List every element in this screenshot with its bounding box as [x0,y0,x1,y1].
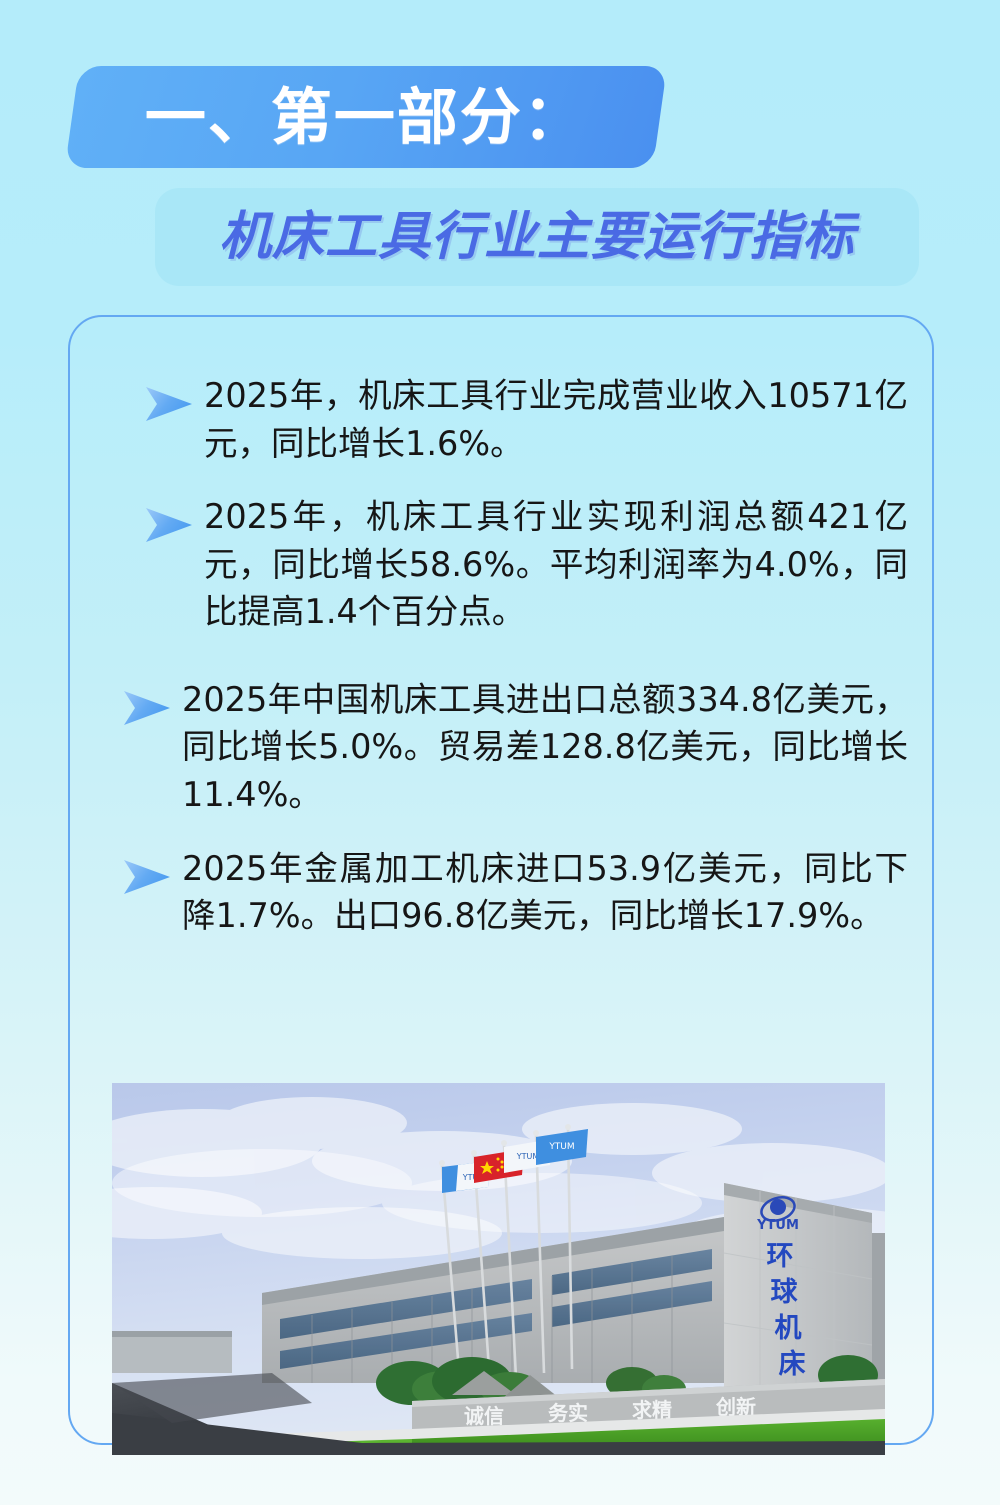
infographic-poster: 一、第一部分： 机床工具行业主要运行指标 [0,0,1000,1505]
list-item: 2025年中国机床工具进出口总额334.8亿美元，同比增长5.0%。贸易差128… [118,676,908,819]
svg-text:YTUM: YTUM [516,1152,540,1161]
svg-text:床: 床 [779,1348,806,1380]
svg-text:环: 环 [767,1241,794,1272]
arrow-right-icon [118,857,176,897]
arrow-right-icon [140,384,198,424]
page-subtitle: 机床工具行业主要运行指标 [219,211,855,263]
list-item: 2025年金属加工机床进口53.9亿美元，同比下降1.7%。出口96.8亿美元，… [118,845,908,940]
section-subtitle-banner: 机床工具行业主要运行指标 [155,188,919,286]
list-item-text: 2025年，机床工具行业完成营业收入10571亿元，同比增长1.6%。 [204,372,908,467]
svg-text:YTUM: YTUM [756,1218,799,1233]
svg-text:诚信: 诚信 [464,1404,504,1428]
list-item-text: 2025年金属加工机床进口53.9亿美元，同比下降1.7%。出口96.8亿美元，… [182,845,908,940]
svg-text:球: 球 [771,1277,799,1308]
company-building-photo: YTUM 环 球 机 床 [112,1083,885,1455]
list-item: 2025年，机床工具行业实现利润总额421亿元，同比增长58.6%。平均利润率为… [118,493,908,636]
arrow-right-icon [118,688,176,728]
bullet-list: 2025年，机床工具行业完成营业收入10571亿元，同比增长1.6%。 2025… [118,372,908,940]
svg-text:YTUM: YTUM [548,1142,574,1152]
list-item-text: 2025年，机床工具行业实现利润总额421亿元，同比增长58.6%。平均利润率为… [204,493,908,636]
section-title-banner: 一、第一部分： [65,66,667,168]
list-item-text: 2025年中国机床工具进出口总额334.8亿美元，同比增长5.0%。贸易差128… [182,676,908,819]
svg-text:务实: 务实 [548,1401,588,1425]
list-item: 2025年，机床工具行业完成营业收入10571亿元，同比增长1.6%。 [118,372,908,467]
page-title: 一、第一部分： [145,87,586,148]
svg-text:机: 机 [775,1313,802,1344]
arrow-right-icon [140,505,198,545]
